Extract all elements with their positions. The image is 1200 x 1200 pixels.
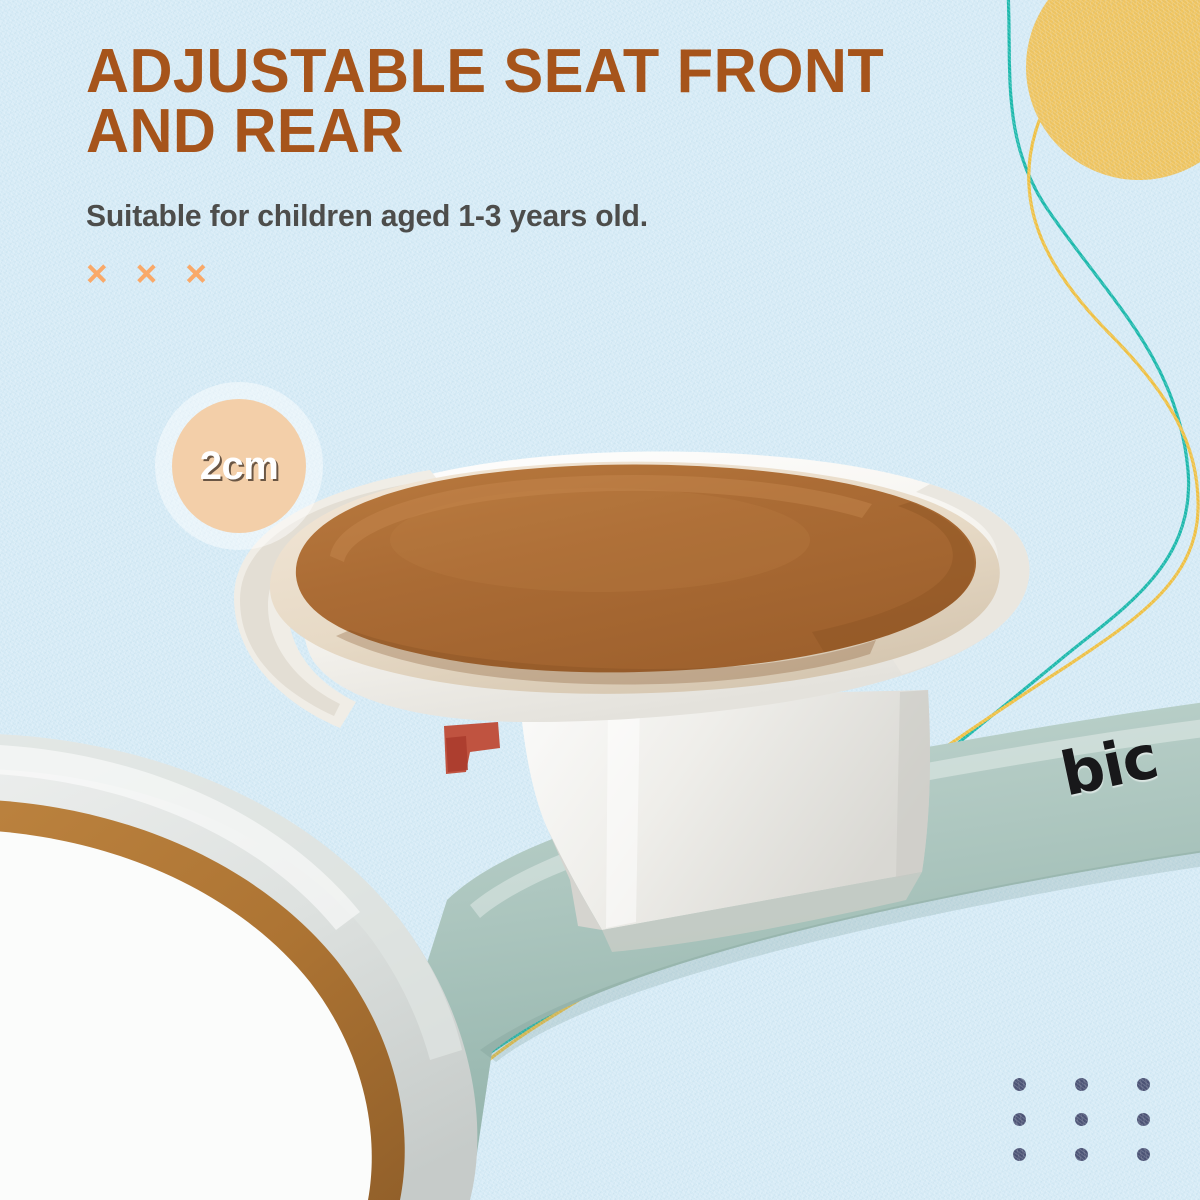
x-mark-row: × × × [86, 234, 1046, 292]
callout-value: 2cm [155, 382, 323, 550]
product-banner: bic 2cm ADJUSTABLE SEAT FRONT AND REAR S… [0, 0, 1200, 1200]
quick-release-lever [444, 722, 500, 774]
page-title: ADJUSTABLE SEAT FRONT AND REAR [86, 42, 1008, 162]
front-wheel [0, 733, 477, 1200]
measurement-callout: 2cm [155, 382, 323, 550]
headline-block: ADJUSTABLE SEAT FRONT AND REAR Suitable … [86, 42, 1046, 292]
x-mark-icon: × [185, 255, 207, 292]
x-mark-icon: × [136, 255, 158, 292]
subtitle: Suitable for children aged 1-3 years old… [86, 162, 1017, 234]
x-mark-icon: × [86, 255, 108, 292]
